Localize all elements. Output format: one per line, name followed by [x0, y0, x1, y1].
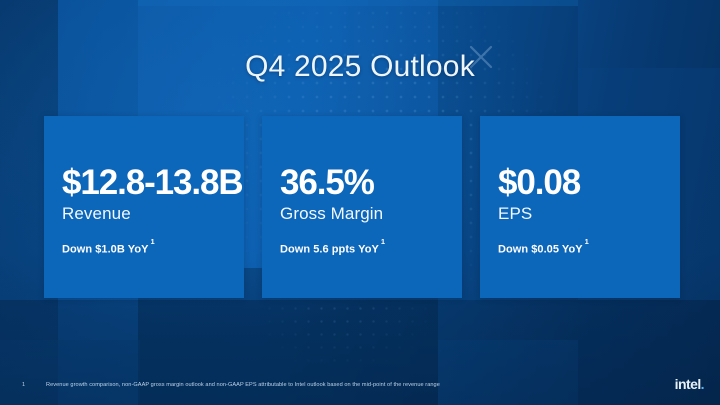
metric-delta: Down 5.6 ppts YoY1: [280, 241, 450, 256]
metric-card-content: 36.5% Gross Margin Down 5.6 ppts YoY1: [280, 164, 450, 256]
footnote: 1 Revenue growth comparison, non-GAAP gr…: [22, 382, 440, 389]
intel-logo-wordmark: intel: [675, 376, 701, 392]
metric-label: Gross Margin: [280, 204, 450, 224]
footnote-marker: 1: [22, 382, 46, 389]
metric-value: $12.8-13.8B: [62, 164, 232, 201]
metric-label: EPS: [498, 204, 668, 224]
intel-logo-dot: .: [701, 376, 704, 392]
metric-delta-footnote-marker: 1: [585, 237, 589, 246]
metric-card-content: $0.08 EPS Down $0.05 YoY1: [498, 164, 668, 256]
metric-value: $0.08: [498, 164, 668, 201]
metric-label: Revenue: [62, 204, 232, 224]
metric-delta: Down $0.05 YoY1: [498, 241, 668, 256]
metric-card-revenue: $12.8-13.8B Revenue Down $1.0B YoY1: [44, 116, 244, 298]
metric-delta-footnote-marker: 1: [150, 237, 154, 246]
slide-canvas: Q4 2025 Outlook $12.8-13.8B Revenue Down…: [0, 0, 720, 405]
metric-delta-text: Down 5.6 ppts YoY: [280, 244, 379, 256]
metric-delta-text: Down $1.0B YoY: [62, 244, 148, 256]
metric-delta: Down $1.0B YoY1: [62, 241, 232, 256]
intel-logo: intel.: [675, 376, 704, 392]
page-title: Q4 2025 Outlook: [0, 50, 720, 84]
metric-card-eps: $0.08 EPS Down $0.05 YoY1: [480, 116, 680, 298]
metric-delta-footnote-marker: 1: [381, 237, 385, 246]
metric-card-gross-margin: 36.5% Gross Margin Down 5.6 ppts YoY1: [262, 116, 462, 298]
metric-value: 36.5%: [280, 164, 450, 201]
footnote-text: Revenue growth comparison, non-GAAP gros…: [46, 382, 440, 389]
metric-card-group: $12.8-13.8B Revenue Down $1.0B YoY1 36.5…: [44, 116, 680, 298]
metric-card-content: $12.8-13.8B Revenue Down $1.0B YoY1: [62, 164, 232, 256]
metric-delta-text: Down $0.05 YoY: [498, 244, 583, 256]
